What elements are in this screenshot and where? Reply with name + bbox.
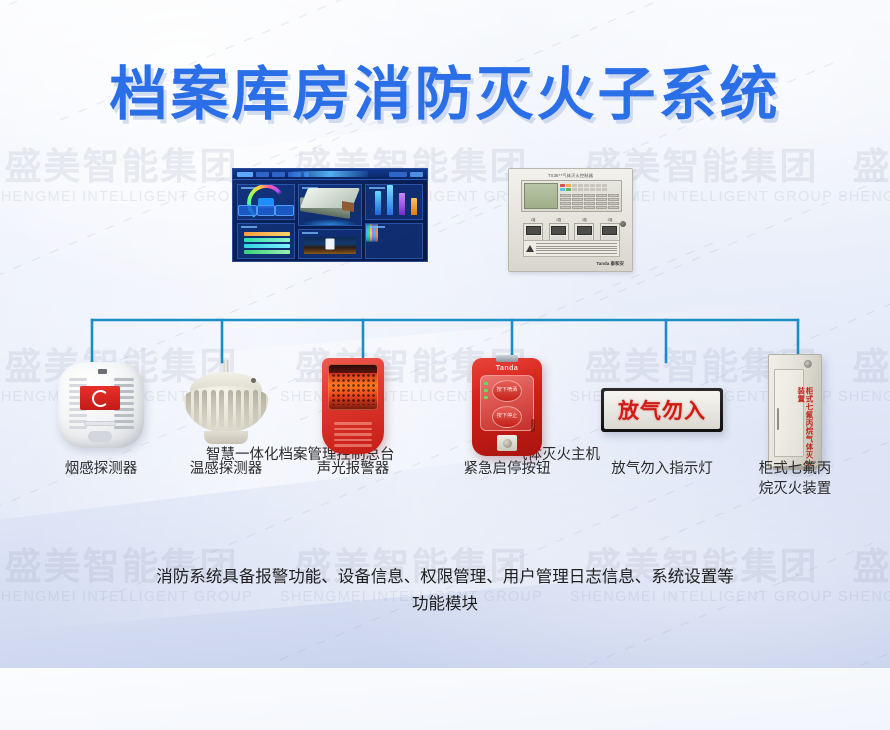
heat-detector-led (251, 378, 256, 383)
console-bar-chart-panel (365, 184, 423, 220)
device-row: 烟感探测器 温感探测器 声光报警器 Tanda 按下喷洒 按下停止 (0, 352, 890, 532)
console-device-render-panel (298, 184, 363, 226)
dashboard-console-image (232, 168, 428, 262)
zone-label: 2路 (549, 217, 569, 222)
warning-triangle-icon (526, 245, 534, 252)
host-lock-knob[interactable] (620, 221, 626, 227)
host-keypad[interactable] (560, 194, 619, 209)
footer-caption: 消防系统具备报警功能、设备信息、权限管理、用户管理日志信息、系统设置等 功能模块 (0, 563, 890, 617)
heat-detector-image (180, 360, 272, 448)
smoke-detector-test-button[interactable] (88, 431, 112, 442)
discharge-button-label: 按下喷洒 (497, 388, 518, 394)
gas-warning-lamp-label: 放气勿入指示灯 (587, 460, 737, 480)
top-device-row: TX36**气体灭火控制器 (0, 168, 890, 303)
footer-caption-line1: 消防系统具备报警功能、设备信息、权限管理、用户管理日志信息、系统设置等 (0, 563, 890, 590)
gas-warning-lamp-text: 放气勿入 (604, 391, 720, 429)
sound-light-alarm-label: 声光报警器 (278, 460, 428, 480)
emergency-discharge-button[interactable]: 按下喷洒 (492, 380, 522, 402)
gas-extinguishing-host-image: TX36**气体灭火控制器 (508, 168, 633, 272)
console-video-panel (298, 229, 363, 259)
cabinet-side-text: 柜式七氟丙烷气体灭火装置 (801, 387, 813, 467)
emergency-button-label: 紧急启停按钮 (432, 460, 582, 480)
cabinet-extinguisher-label-line2: 烷灭火装置 (720, 480, 870, 500)
zone-label: 4路 (600, 217, 620, 222)
smoke-detector-badge (80, 386, 120, 410)
emergency-button-cover[interactable]: 按下喷洒 按下停止 (480, 375, 534, 431)
gas-warning-lamp-image: 放气勿入 (601, 388, 723, 432)
emergency-stop-button[interactable]: 按下停止 (492, 406, 522, 428)
host-panel-title: TX36**气体灭火控制器 (509, 173, 632, 179)
alarm-strobe-lens (328, 364, 378, 410)
host-warning-label (523, 240, 620, 257)
console-function-icons-panel (365, 223, 423, 259)
smoke-detector-led (98, 369, 107, 374)
console-gauge-panel (237, 184, 295, 220)
emergency-button-image: Tanda 按下喷洒 按下停止 (472, 358, 542, 456)
host-brand-label: Tanda 泰和安 (596, 261, 624, 267)
page-title: 档案库房消防灭火子系统 (0, 47, 890, 131)
host-lcd-screen (524, 183, 558, 209)
zone-label: 1路 (523, 217, 543, 222)
smoke-detector-image (58, 362, 144, 448)
host-indicator-leds (560, 183, 619, 209)
console-header-bar (233, 169, 427, 180)
zone-label: 3路 (574, 217, 594, 222)
console-heatmap-panel (237, 223, 295, 259)
stop-button-label: 按下停止 (497, 414, 518, 420)
alarm-speaker-grille (328, 422, 378, 447)
cabinet-pressure-gauge (804, 360, 812, 368)
cabinet-door[interactable] (774, 369, 804, 457)
cabinet-extinguisher-image: 柜式七氟丙烷气体灭火装置 (768, 354, 822, 468)
host-display-area (521, 180, 622, 212)
cabinet-extinguisher-label-line1: 柜式七氟丙 (720, 460, 870, 480)
footer-caption-line2: 功能模块 (0, 590, 890, 617)
sound-light-alarm-image (322, 358, 384, 454)
emergency-button-brand: Tanda (472, 365, 542, 372)
emergency-button-keyswitch[interactable] (497, 435, 517, 451)
